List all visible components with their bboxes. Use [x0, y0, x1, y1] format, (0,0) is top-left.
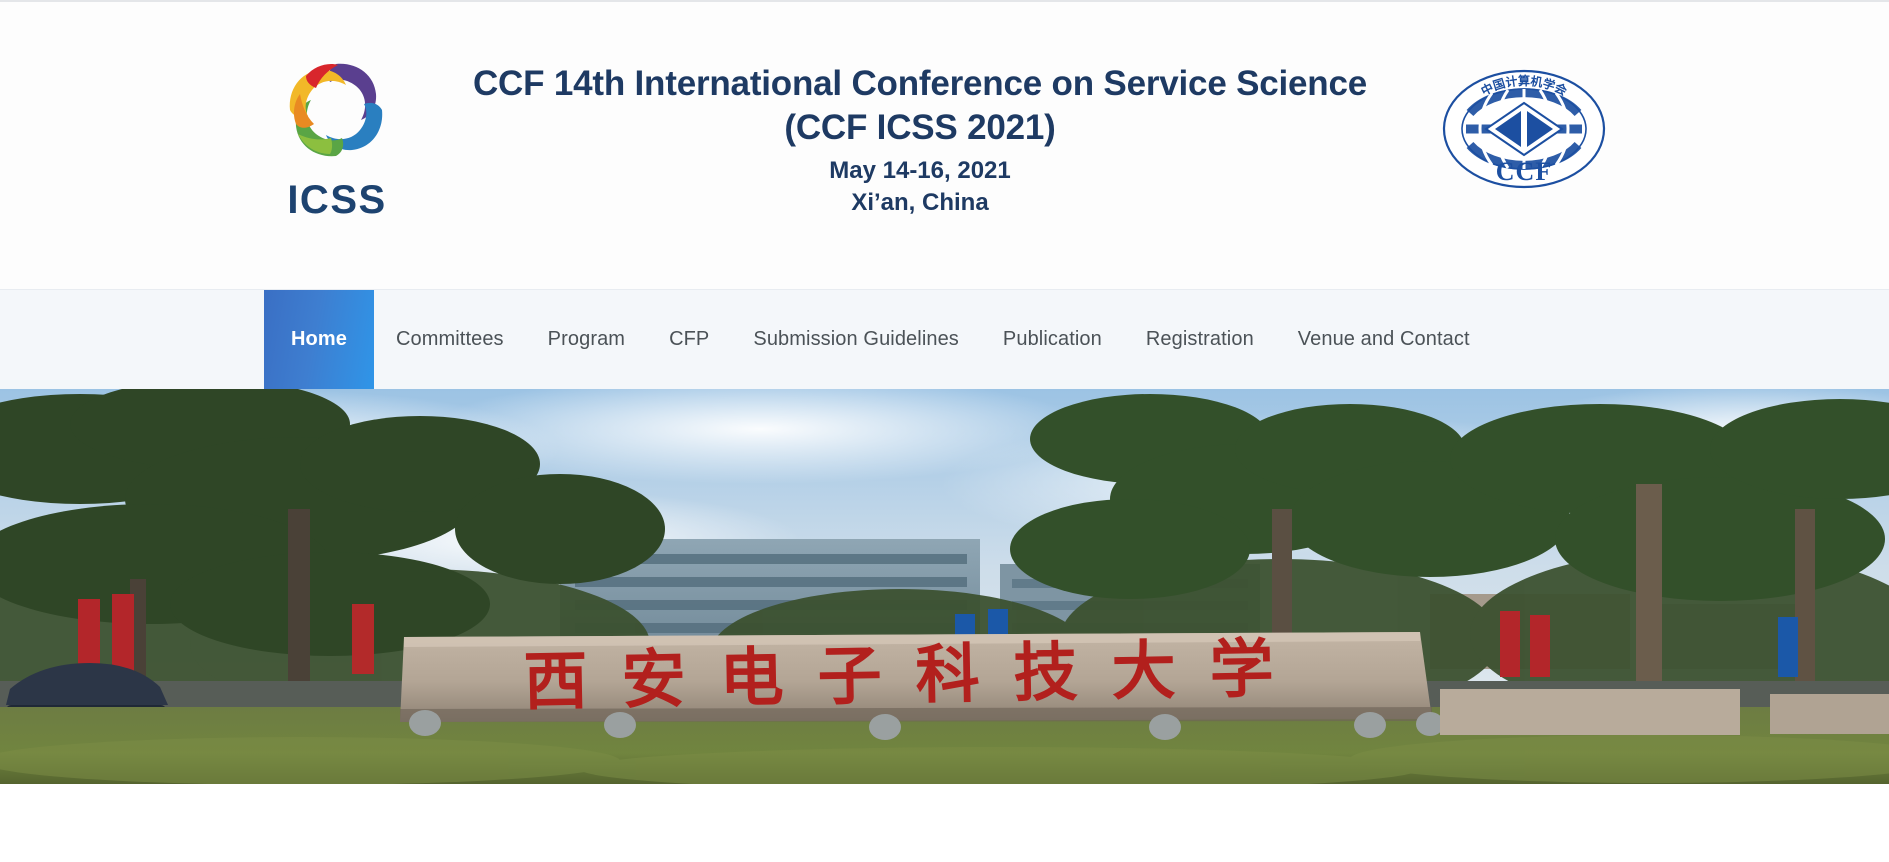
icss-swirl-logo [276, 50, 396, 170]
hero-banner-image: 西安电子科技大学 [0, 389, 1889, 784]
conference-location: Xi’an, China [400, 187, 1440, 219]
nav-item-venue-and-contact[interactable]: Venue and Contact [1276, 290, 1492, 389]
conference-title-line1: CCF 14th International Conference on Ser… [400, 62, 1440, 105]
nav-item-registration[interactable]: Registration [1124, 290, 1276, 389]
ccf-logo[interactable]: 中国计算机学会 CCF [1437, 67, 1612, 192]
nav-item-cfp[interactable]: CFP [647, 290, 731, 389]
conference-date: May 14-16, 2021 [400, 155, 1440, 187]
nav-label: Registration [1146, 328, 1254, 351]
conference-title-line2: (CCF ICSS 2021) [400, 105, 1440, 151]
nav-label: Submission Guidelines [753, 328, 959, 351]
nav-label: Publication [1003, 328, 1102, 351]
icss-logo[interactable]: ICSS [272, 50, 402, 230]
svg-text:CCF: CCF [1496, 157, 1552, 186]
nav-item-publication[interactable]: Publication [981, 290, 1124, 389]
page-content-area [0, 784, 1889, 862]
conference-title-block: CCF 14th International Conference on Ser… [400, 62, 1440, 219]
nav-label: Venue and Contact [1298, 328, 1470, 351]
nav-item-home[interactable]: Home [264, 290, 374, 389]
ccf-emblem-logo: 中国计算机学会 CCF [1437, 67, 1612, 192]
nav-label: Home [291, 328, 347, 351]
nav-label: CFP [669, 328, 709, 351]
nav-item-program[interactable]: Program [526, 290, 647, 389]
nav-item-submission-guidelines[interactable]: Submission Guidelines [731, 290, 981, 389]
nav-label: Committees [396, 328, 504, 351]
page-root: ICSS CCF 14th International Conference o… [0, 0, 1889, 862]
svg-text:西安电子科技大学: 西安电子科技大学 [523, 632, 1308, 720]
campus-photo: 西安电子科技大学 [0, 389, 1889, 784]
nav-item-committees[interactable]: Committees [374, 290, 526, 389]
icss-wordmark: ICSS [272, 178, 402, 223]
main-navigation[interactable]: Home Committees Program CFP Submission G… [0, 289, 1889, 389]
site-banner: ICSS CCF 14th International Conference o… [0, 2, 1889, 289]
nav-label: Program [548, 328, 625, 351]
